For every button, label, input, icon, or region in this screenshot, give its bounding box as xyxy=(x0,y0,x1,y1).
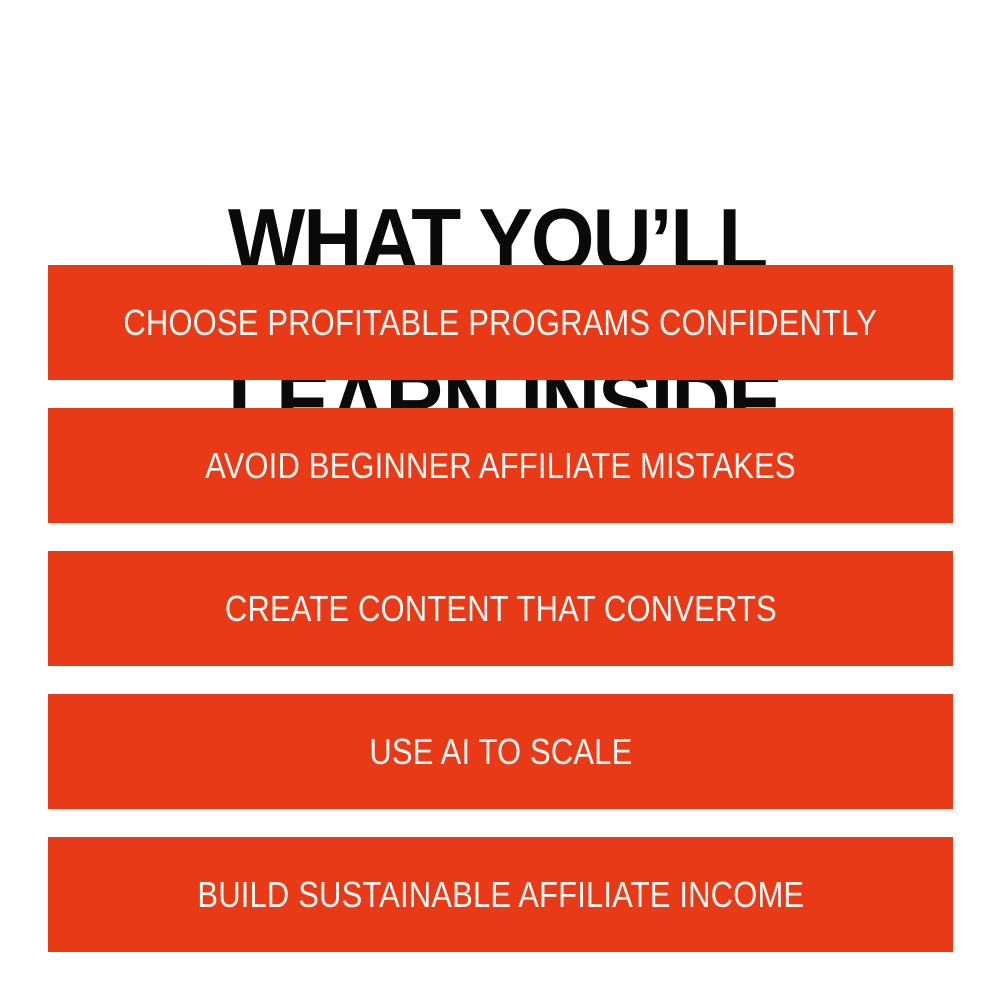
benefit-bar-2: AVOID BEGINNER AFFILIATE MISTAKES xyxy=(48,408,953,523)
benefit-bar-label-5: BUILD SUSTAINABLE AFFILIATE INCOME xyxy=(197,877,804,913)
poster-canvas: WHAT YOU’LL LEARN INSIDE CHOOSE PROFITAB… xyxy=(0,0,1000,1000)
benefit-bar-label-2: AVOID BEGINNER AFFILIATE MISTAKES xyxy=(205,448,796,484)
benefit-bar-5: BUILD SUSTAINABLE AFFILIATE INCOME xyxy=(48,837,953,952)
benefit-bar-list: CHOOSE PROFITABLE PROGRAMS CONFIDENTLY A… xyxy=(48,265,953,952)
benefit-bar-3: CREATE CONTENT THAT CONVERTS xyxy=(48,551,953,666)
benefit-bar-1: CHOOSE PROFITABLE PROGRAMS CONFIDENTLY xyxy=(48,265,953,380)
benefit-bar-label-1: CHOOSE PROFITABLE PROGRAMS CONFIDENTLY xyxy=(124,305,878,341)
benefit-bar-label-4: USE AI TO SCALE xyxy=(369,734,632,770)
benefit-bar-label-3: CREATE CONTENT THAT CONVERTS xyxy=(225,591,777,627)
benefit-bar-4: USE AI TO SCALE xyxy=(48,694,953,809)
